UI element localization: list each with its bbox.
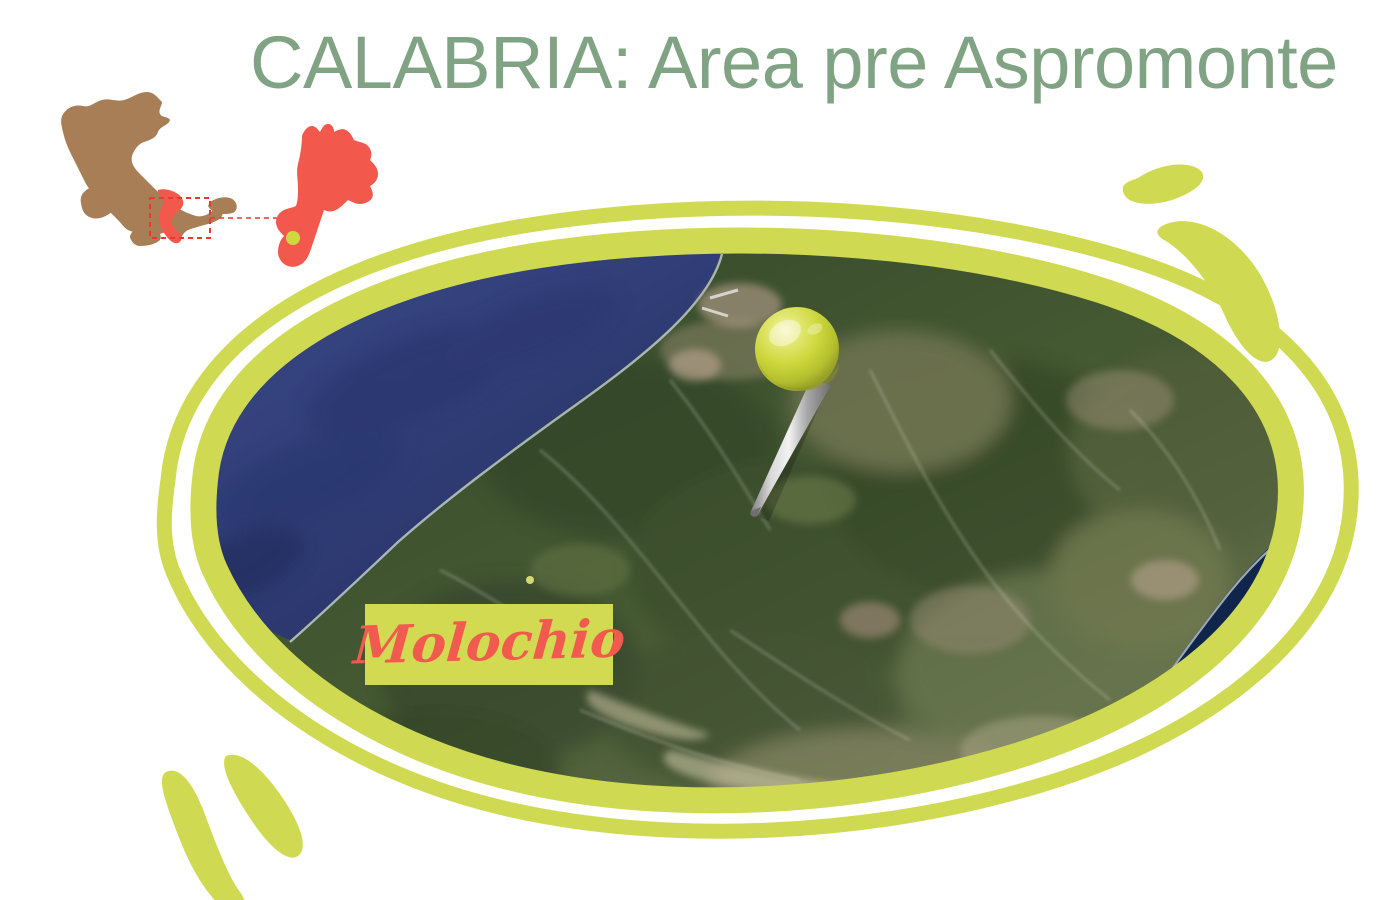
molochio-label-box: Molochio [365,604,613,685]
pin-needle [750,379,831,517]
map-frame [110,150,1340,870]
decor-marks-bottom-left [162,755,303,900]
page-title: CALABRIA: Area pre Aspromonte [250,26,1360,100]
pin-head [755,307,839,391]
location-pushpin[interactable] [735,305,865,525]
molochio-label-text: Molochio [351,613,627,676]
village-marker [526,576,534,584]
poster-canvas: CALABRIA: Area pre Aspromonte [0,0,1400,900]
